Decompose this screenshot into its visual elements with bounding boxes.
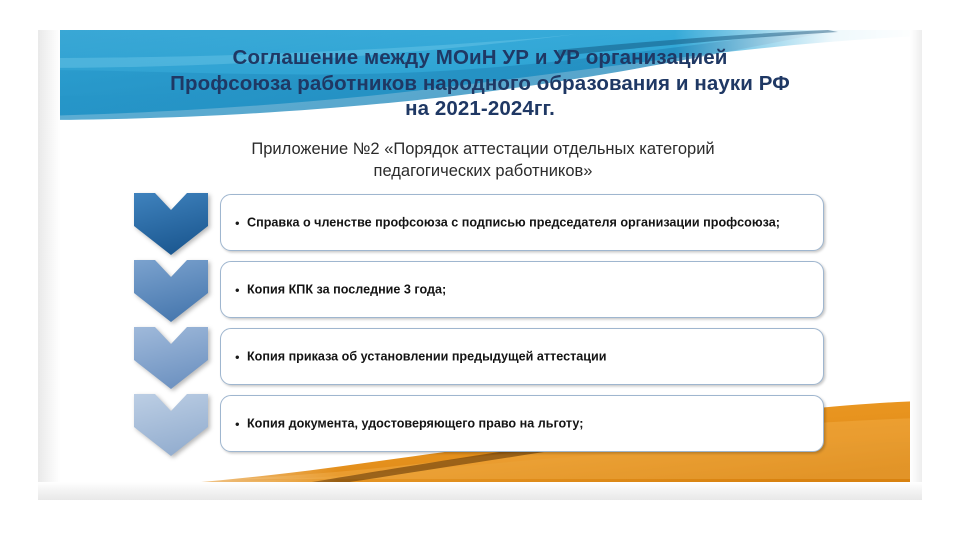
slide-subtitle: Приложение №2 «Порядок аттестации отдель… [118,138,848,182]
requirement-card: • Справка о членстве профсоюза с подпись… [220,194,824,251]
chevron-down-icon [134,394,208,456]
requirement-card: • Копия КПК за последние 3 года; [220,261,824,318]
list-item: • Копия приказа об установлении предыдущ… [134,327,834,389]
bullet-icon: • [235,415,247,432]
requirement-text: Копия документа, удостоверяющего право н… [247,415,811,432]
list-item: • Справка о членстве профсоюза с подпись… [134,193,834,255]
list-item: • Копия КПК за последние 3 года; [134,260,834,322]
bullet-icon: • [235,348,247,365]
slide-frame-left-edge [38,30,60,500]
slide-title: Соглашение между МОиН УР и УР организаци… [80,45,880,122]
slide-frame-bottom-edge [38,482,922,500]
slide-title-line-2: Профсоюза работников народного образован… [80,71,880,97]
document-requirements-list: • Справка о членстве профсоюза с подпись… [134,193,834,456]
requirement-text: Копия приказа об установлении предыдущей… [247,348,811,365]
slide-subtitle-line-2: педагогических работников» [118,160,848,182]
requirement-card: • Копия документа, удостоверяющего право… [220,395,824,452]
requirement-text: Справка о членстве профсоюза с подписью … [247,214,811,231]
list-item: • Копия документа, удостоверяющего право… [134,394,834,456]
chevron-down-icon [134,260,208,322]
slide-frame-right-edge [910,30,922,500]
requirement-card: • Копия приказа об установлении предыдущ… [220,328,824,385]
slide-canvas: Соглашение между МОиН УР и УР организаци… [38,30,922,500]
chevron-down-icon [134,327,208,389]
requirement-text: Копия КПК за последние 3 года; [247,281,811,298]
slide-subtitle-line-1: Приложение №2 «Порядок аттестации отдель… [118,138,848,160]
slide-title-line-1: Соглашение между МОиН УР и УР организаци… [80,45,880,71]
bullet-icon: • [235,214,247,231]
bullet-icon: • [235,281,247,298]
chevron-down-icon [134,193,208,255]
slide-title-line-3: на 2021-2024гг. [80,96,880,122]
